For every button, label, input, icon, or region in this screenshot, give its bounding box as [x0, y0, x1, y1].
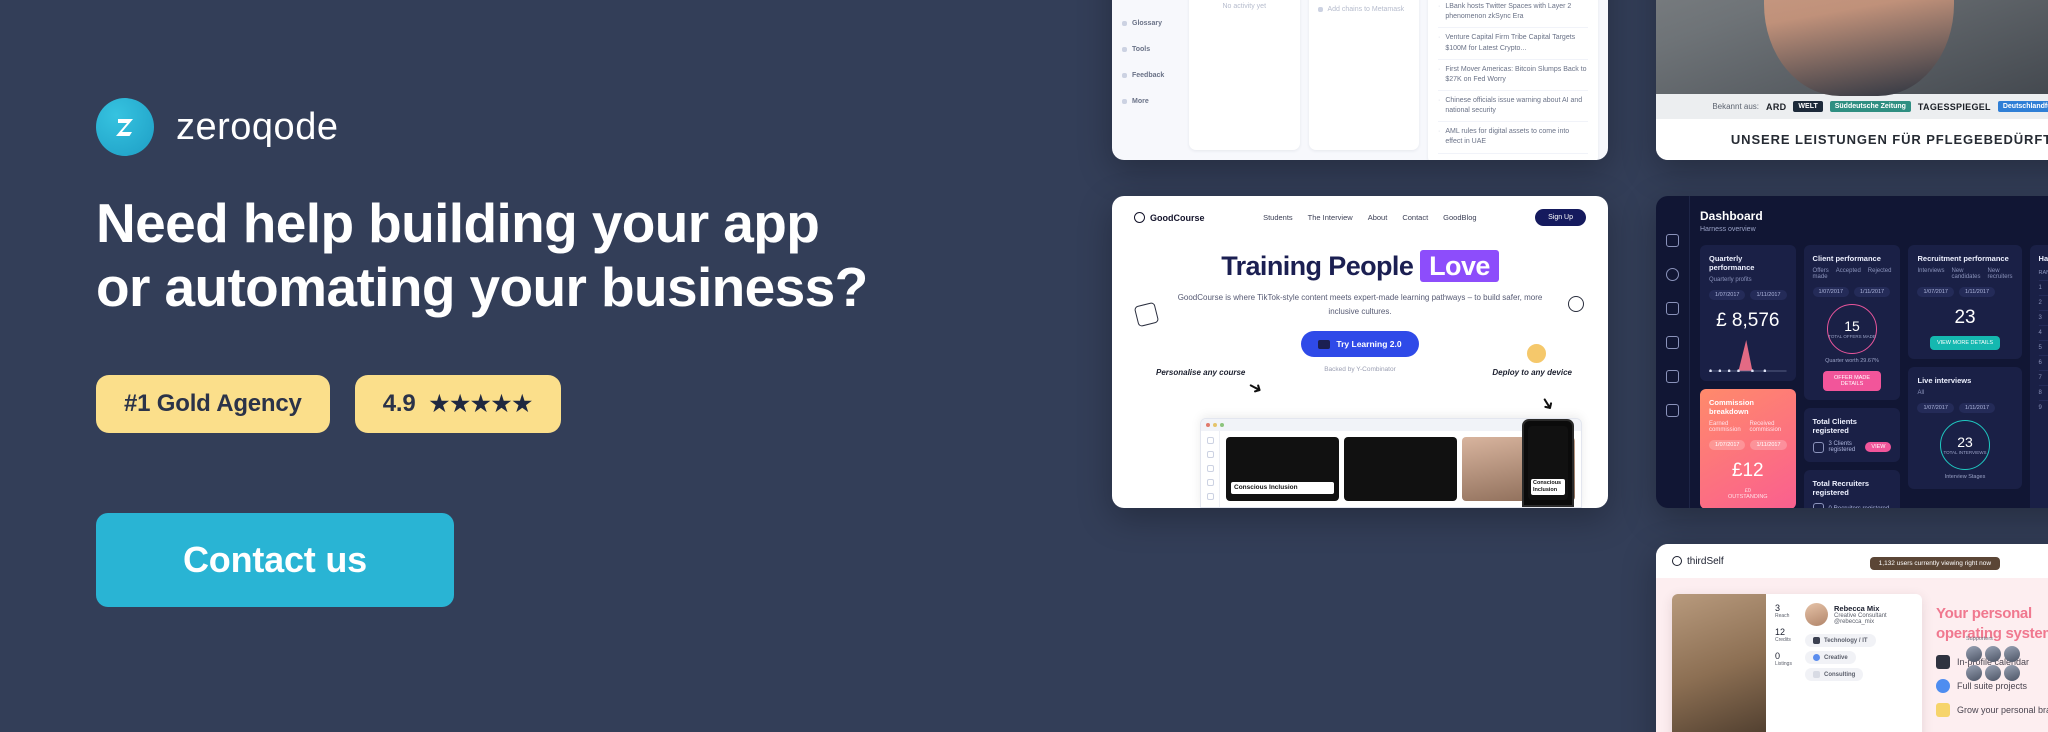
stat-value: 12 [1775, 627, 1801, 637]
profile-card: 3 Reach 12 Credits 0 Listings Rebecca Mi… [1672, 594, 1922, 732]
date-from[interactable]: 1/07/2017 [1709, 440, 1745, 450]
list-item[interactable]: ·AML rules for digital assets to come in… [1438, 122, 1588, 153]
arrow-icon: ➜ [1244, 376, 1266, 400]
portfolio-card-care-service[interactable]: Bekannt aus: ARD WELT Süddeutsche Zeitun… [1656, 0, 2048, 160]
arrow-icon: ➜ [1535, 393, 1560, 416]
cell-rank: 5 [2039, 345, 2048, 351]
widget-harness-score: Harness Score RANKRECRUITER 1Recruiter 2… [2030, 245, 2048, 508]
cell-rank: 7 [2039, 375, 2048, 381]
course-tile: Conscious Inclusion [1226, 437, 1339, 501]
news-headline: AML rules for digital assets to come int… [1445, 127, 1588, 147]
phone-caption: Conscious Inclusion [1531, 479, 1565, 495]
tag-label: Creative [1824, 655, 1848, 661]
tag-creative[interactable]: Creative [1805, 651, 1856, 664]
bullet-icon: · [1438, 2, 1440, 22]
tag-consulting[interactable]: Consulting [1805, 668, 1863, 681]
news-headline: Venture Capital Firm Tribe Capital Targe… [1445, 33, 1588, 53]
widget-tabs: Offers madeAcceptedRejected [1813, 268, 1892, 280]
card-headline: Training People Love [1162, 253, 1558, 280]
search-icon [1318, 7, 1323, 12]
feature-label: Grow your personal brand [1957, 705, 2048, 715]
widget-value: £12 [1709, 460, 1787, 482]
headline-line-1: Your personal [1936, 605, 2032, 622]
widget-title: Recruitment performance [1917, 254, 2012, 263]
app-canvas: Conscious Inclusion Conscious Inclusion [1220, 431, 1581, 507]
crypto-panes: Latest transactions No activity yet Meta… [1189, 0, 1419, 150]
sparkle-icon [1813, 654, 1820, 661]
ghost-row: Add chains to Metamask [1318, 0, 1411, 19]
tab[interactable]: Received commission [1749, 421, 1786, 433]
table-row: 8Jacks [2039, 385, 2048, 400]
card-subtitle: GoodCourse is where TikTok-style content… [1162, 291, 1558, 318]
try-learning-button[interactable]: Try Learning 2.0 [1301, 331, 1418, 357]
cell-rank: 1 [2039, 285, 2048, 291]
row-label: 3 Clients registered [1829, 441, 1861, 453]
avatar [1985, 665, 2001, 681]
column-rank: RANK [2039, 270, 2048, 276]
image-icon [1207, 465, 1214, 472]
profile-cover-photo [1672, 594, 1766, 732]
rail-item: Glossary [1132, 20, 1162, 27]
tab[interactable]: Accepted [1836, 268, 1861, 280]
widget-total-recruiters: Total Recruiters registered 0 Recruiters… [1804, 470, 1901, 508]
avatar [1985, 646, 2001, 662]
press-logo-welt: WELT [1793, 101, 1822, 112]
network-icon[interactable] [1666, 302, 1679, 315]
browser-body: Conscious Inclusion Conscious Inclusion [1201, 431, 1581, 507]
page-title: Need help building your app or automatin… [96, 192, 1076, 320]
table-row: 4Ben S [2039, 325, 2048, 340]
live-viewers-banner: 1,132 users currently viewing right now [1734, 552, 2048, 570]
phone-mockup: Conscious Inclusion [1522, 419, 1574, 507]
profile-name: Rebecca Mix [1834, 604, 1879, 613]
person-photo [1764, 0, 1954, 96]
avatar [1966, 646, 1982, 662]
laptop-icon [1813, 637, 1820, 644]
tag-technology[interactable]: Technology / IT [1805, 634, 1876, 647]
status-badge-rating: 4.9 ★★★★★ [355, 375, 561, 433]
widget-title: Live interviews [1917, 376, 2012, 385]
press-label: Bekannt aus: [1712, 102, 1759, 111]
hero-section: zeroqode Need help building your app or … [0, 0, 2048, 732]
close-icon [1206, 423, 1210, 427]
date-from[interactable]: 1/07/2017 [1709, 290, 1745, 300]
dashboard-sidebar [1656, 196, 1690, 508]
home-icon[interactable] [1666, 234, 1679, 247]
avatar [2004, 646, 2020, 662]
date-range: 1/07/20171/11/2017 [1813, 287, 1892, 297]
supporters-block: Supporters [1966, 636, 2040, 684]
avatar [1525, 342, 1548, 365]
date-to[interactable]: 1/11/2017 [1959, 287, 1995, 297]
crypto-side: Extended wallet investigation Wallet san… [1428, 0, 1598, 150]
zeroqode-z-logo-icon [96, 98, 154, 156]
date-range: 1/07/20171/11/2017 [1709, 290, 1787, 300]
tag-label: Technology / IT [1824, 638, 1868, 644]
site-nav: thirdSelf 1,132 users currently viewing … [1656, 544, 2048, 578]
badge-row: #1 Gold Agency 4.9 ★★★★★ [96, 375, 561, 433]
calendar-icon [1936, 655, 1950, 669]
table-row: 9Karen [2039, 400, 2048, 415]
donut-chart: 23 TOTAL INTERVIEWS [1940, 420, 1990, 470]
tab[interactable]: New candidates [1952, 268, 1981, 280]
course-tile [1344, 437, 1457, 501]
dashboard-subtitle: Harness overview [1700, 226, 2048, 233]
bullet-icon [1122, 99, 1127, 104]
widget-live-interviews: Live interviews All 1/07/20171/11/2017 2… [1908, 367, 2021, 489]
profile-body: 3 Reach 12 Credits 0 Listings Rebecca Mi… [1766, 594, 1922, 732]
nav-item-contact[interactable]: Contact [1402, 213, 1428, 222]
profile-handle: @rebecca_mix [1834, 619, 1887, 625]
rail-item: More [1132, 98, 1149, 105]
date-range: 1/07/20171/11/2017 [1917, 403, 2012, 413]
tab[interactable]: Interviews [1917, 268, 1944, 280]
dashboard-title: Dashboard [1700, 209, 2048, 223]
camera-icon [1318, 340, 1330, 349]
nav-item-the-interview[interactable]: The Interview [1308, 213, 1353, 222]
stat-label: Reach [1775, 613, 1801, 619]
list-item[interactable]: ·LBank hosts Twitter Spaces with Layer 2… [1438, 0, 1588, 28]
ghost-label: Add chains to Metamask [1328, 6, 1405, 13]
cell-rank: 8 [2039, 390, 2048, 396]
widget-total-clients: Total Clients registered 3 Clients regis… [1804, 408, 1901, 462]
chart-label: TOTAL OFFERS MADE [1828, 334, 1876, 339]
portfolio-card-harness-dashboard[interactable]: Dashboard Harness overview Quarterly per… [1656, 196, 2048, 508]
table-row: 1Recruiter [2039, 280, 2048, 295]
sparkline-chart [1709, 338, 1787, 372]
stat-value: 0 [1775, 651, 1801, 661]
press-logos-row: Bekannt aus: ARD WELT Süddeutsche Zeitun… [1656, 94, 2048, 119]
logo-text: thirdSelf [1687, 556, 1724, 567]
portfolio-card-thirdself[interactable]: thirdSelf 1,132 users currently viewing … [1656, 544, 2048, 732]
app-sidebar [1201, 431, 1220, 507]
widget-column: Recruitment performance InterviewsNew ca… [1908, 245, 2021, 508]
thirdself-hero: 3 Reach 12 Credits 0 Listings Rebecca Mi… [1656, 578, 2048, 732]
table-row: 7Sungai [2039, 370, 2048, 385]
empty-state-text: No activity yet [1198, 0, 1291, 10]
table-row: 2Alexa [2039, 295, 2048, 310]
news-headline: Chinese officials issue warning about AI… [1445, 96, 1588, 116]
video-icon [1207, 451, 1214, 458]
news-headline: First Mover Americas: Bitcoin Slumps Bac… [1445, 65, 1588, 85]
phone-screen: Conscious Inclusion [1528, 426, 1568, 500]
date-from[interactable]: 1/07/2017 [1917, 287, 1953, 297]
headline-line-1: Need help building your app [96, 192, 819, 254]
list-item[interactable]: ·Chinese officials issue warning about A… [1438, 91, 1588, 122]
widget-grid: Quarterly performance Quarterly profits … [1700, 245, 2048, 508]
text-icon [1207, 479, 1214, 486]
table-row: 6Dean [2039, 355, 2048, 370]
home-icon [1207, 437, 1214, 444]
view-details-button[interactable]: VIEW MORE DETAILS [1930, 336, 2000, 350]
widget-value: 23 [1917, 307, 2012, 329]
date-range: 1/07/20171/11/2017 [1709, 440, 1787, 450]
date-to[interactable]: 1/11/2017 [1959, 403, 1995, 413]
donut-chart: 15 TOTAL OFFERS MADE [1827, 304, 1877, 354]
dashboard-body: Dashboard Harness overview Quarterly per… [1690, 196, 2048, 508]
button-label: Try Learning 2.0 [1336, 339, 1401, 349]
list-item: Grow your personal brand [1936, 703, 2048, 717]
bullet-icon [1122, 21, 1127, 26]
maximize-icon [1220, 423, 1224, 427]
chart-value: 15 [1844, 318, 1860, 334]
widget-footnote: OUTSTANDING [1709, 494, 1787, 500]
headline-line-2: or automating your business? [96, 256, 1076, 320]
settings-icon [1207, 493, 1214, 500]
crypto-rail: Glossary Tools Feedback More [1122, 0, 1180, 150]
stat-label: Credits [1775, 637, 1801, 643]
stat-label: Listings [1775, 661, 1801, 667]
site-nav: GoodCourse Students The Interview About … [1112, 196, 1608, 239]
tab[interactable]: New recruiters [1988, 268, 2013, 280]
profile-stats: 3 Reach 12 Credits 0 Listings [1775, 603, 1801, 675]
logo-text: GoodCourse [1150, 213, 1205, 223]
portfolio-card-crypto-dashboard[interactable]: Glossary Tools Feedback More Metis $0.07… [1112, 0, 1608, 160]
widget-title: Client performance [1813, 254, 1892, 263]
widget-title: Harness Score [2039, 254, 2048, 263]
hero-left-column: zeroqode Need help building your app or … [96, 0, 1096, 732]
circle-icon [1134, 212, 1145, 223]
chart-icon[interactable] [1666, 404, 1679, 417]
nav-item-students[interactable]: Students [1263, 213, 1293, 222]
avatar-row [1966, 646, 2040, 662]
nav-item-about[interactable]: About [1368, 213, 1388, 222]
section-heading: UNSERE LEISTUNGEN FÜR PFLEGEBEDÜRFTIGE [1656, 119, 2048, 160]
portfolio-card-goodcourse[interactable]: GoodCourse Students The Interview About … [1112, 196, 1608, 508]
date-to[interactable]: 1/11/2017 [1750, 290, 1786, 300]
rating-score: 4.9 [383, 390, 416, 418]
goodcourse-logo[interactable]: GoodCourse [1134, 212, 1205, 223]
date-to[interactable]: 1/11/2017 [1750, 440, 1786, 450]
avatar-row [1966, 665, 2040, 681]
bullet-icon: · [1438, 127, 1440, 147]
date-range: 1/07/20171/11/2017 [1917, 287, 2012, 297]
table-row: 3Ben G [2039, 310, 2048, 325]
bullet-icon: · [1438, 96, 1440, 116]
offer-details-button[interactable]: OFFER MADE DETAILS [1823, 371, 1881, 391]
widget-tabs: Quarterly profits [1709, 277, 1787, 283]
bullet-icon: · [1438, 33, 1440, 53]
metamask-actions-pane: Metamask actions Add tokens to Metamask … [1309, 0, 1420, 150]
target-icon[interactable] [1666, 268, 1679, 281]
tab[interactable]: Quarterly profits [1709, 277, 1752, 283]
rating-stars-icon: ★★★★★ [429, 391, 533, 417]
widget-column: Quarterly performance Quarterly profits … [1700, 245, 1796, 508]
headline-plain: Training People [1221, 251, 1420, 281]
widget-commission-breakdown: Commission breakdown Earned commissionRe… [1700, 389, 1796, 508]
widget-title: Commission breakdown [1709, 398, 1787, 416]
bullet-icon [1122, 73, 1127, 78]
date-from[interactable]: 1/07/2017 [1917, 403, 1953, 413]
nav-links: Students The Interview About Contact Goo… [1217, 213, 1524, 222]
banner-text: 1,132 users currently viewing right now [1870, 557, 2000, 570]
circle-icon [1672, 556, 1682, 566]
supporters-label: Supporters [1966, 636, 2040, 642]
widget-footnote: Interview Stages [1917, 474, 2012, 480]
avatar [1805, 603, 1828, 626]
annotation-deploy: Deploy to any device [1492, 368, 1572, 379]
chart-label: TOTAL INTERVIEWS [1943, 450, 1986, 455]
list-item[interactable]: ·Venture Capital Firm Tribe Capital Targ… [1438, 28, 1588, 59]
bullet-icon: · [1438, 65, 1440, 85]
widget-row: 0 Recruiters registered [1813, 503, 1892, 508]
widget-title: Total Recruiters registered [1813, 479, 1892, 497]
profile-identity: Rebecca Mix Creative Consultant @rebecca… [1805, 603, 1913, 626]
tab[interactable]: Rejected [1868, 268, 1892, 280]
table-header: RANKRECRUITER [2039, 270, 2048, 276]
annotation-personalise: Personalise any course [1156, 368, 1245, 379]
brand-name: zeroqode [176, 108, 338, 146]
widget-quarterly-performance: Quarterly performance Quarterly profits … [1700, 245, 1796, 381]
widget-column: Client performance Offers madeAcceptedRe… [1804, 245, 1901, 508]
thirdself-logo[interactable]: thirdSelf [1672, 556, 1724, 567]
avatar [2004, 665, 2020, 681]
press-logo-tagesspiegel: TAGESSPIEGEL [1918, 102, 1991, 112]
widget-recruitment-performance: Recruitment performance InterviewsNew ca… [1908, 245, 2021, 359]
view-button[interactable]: VIEW [1865, 442, 1891, 452]
cell-rank: 4 [2039, 330, 2048, 336]
lightbulb-icon [1568, 296, 1584, 312]
cell-rank: 6 [2039, 360, 2048, 366]
widget-title: Total Clients registered [1813, 417, 1892, 435]
profile-tags: Technology / IT Creative Consulting [1805, 634, 1913, 681]
rail-item: Tools [1132, 46, 1150, 53]
press-logo-deutschlandfunk: Deutschlandfunk [1998, 101, 2048, 112]
tag-label: Consulting [1824, 672, 1855, 678]
widget-value: £ 8,576 [1709, 310, 1787, 332]
bullet-icon [1122, 47, 1127, 52]
news-headline: LBank hosts Twitter Spaces with Layer 2 … [1445, 2, 1588, 22]
row-label: 0 Recruiters registered [1829, 506, 1890, 509]
widget-client-performance: Client performance Offers madeAcceptedRe… [1804, 245, 1901, 400]
nav-item-goodblog[interactable]: GoodBlog [1443, 213, 1476, 222]
tab[interactable]: All [1917, 390, 1924, 396]
chart-value: 23 [1957, 434, 1973, 450]
avatar [1966, 665, 1982, 681]
status-badge-gold-agency: #1 Gold Agency [96, 375, 330, 433]
hero-photo [1656, 0, 2048, 94]
tab[interactable]: Earned commission [1709, 421, 1742, 433]
latest-transactions-pane: Latest transactions No activity yet [1189, 0, 1300, 150]
widget-tabs: InterviewsNew candidatesNew recruiters [1917, 268, 2012, 280]
press-logo-sz: Süddeutsche Zeitung [1830, 101, 1911, 112]
contact-us-button[interactable]: Contact us [96, 513, 454, 607]
date-to[interactable]: 1/11/2017 [1854, 287, 1890, 297]
browser-mockup: Conscious Inclusion Conscious Inclusion [1200, 418, 1582, 508]
people-icon[interactable] [1666, 370, 1679, 383]
top-crypto-news-pane: Top crypto news ·Here are the Top 5 Chat… [1428, 0, 1598, 160]
minimize-icon [1213, 423, 1217, 427]
date-from[interactable]: 1/07/2017 [1813, 287, 1849, 297]
widget-row: 3 Clients registeredVIEW [1813, 441, 1892, 453]
brand-logo[interactable]: zeroqode [96, 98, 338, 156]
widget-tabs: Earned commissionReceived commission [1709, 421, 1787, 433]
widget-tabs: All [1917, 390, 2012, 396]
badge-label: #1 Gold Agency [124, 390, 302, 418]
headline-highlight: Love [1420, 250, 1499, 282]
cell-rank: 9 [2039, 405, 2048, 411]
press-logo-ard: ARD [1766, 102, 1786, 112]
tile-caption: Conscious Inclusion [1231, 482, 1334, 494]
briefcase-icon [1813, 671, 1820, 678]
widget-footnote: Quarter worth 29.67% [1813, 358, 1892, 364]
briefcase-icon[interactable] [1666, 336, 1679, 349]
crypto-main: Metis $0.07 BSC $0.84 Celo $0.60 [1189, 0, 1419, 150]
portfolio-gallery: Glossary Tools Feedback More Metis $0.07… [1112, 0, 2048, 732]
projects-icon [1936, 679, 1950, 693]
network-icon [1813, 503, 1824, 508]
stat-value: 3 [1775, 603, 1801, 613]
cell-rank: 3 [2039, 315, 2048, 321]
rail-item: Feedback [1132, 72, 1164, 79]
cell-rank: 2 [2039, 300, 2048, 306]
table-row: 5anata [2039, 340, 2048, 355]
list-item[interactable]: ·First Mover Americas: Bitcoin Slumps Ba… [1438, 60, 1588, 91]
tab[interactable]: Offers made [1813, 268, 1829, 280]
briefcase-icon [1813, 442, 1824, 453]
widget-title: Quarterly performance [1709, 254, 1787, 272]
sign-up-button[interactable]: Sign Up [1535, 209, 1586, 226]
sparkle-icon [1936, 703, 1950, 717]
